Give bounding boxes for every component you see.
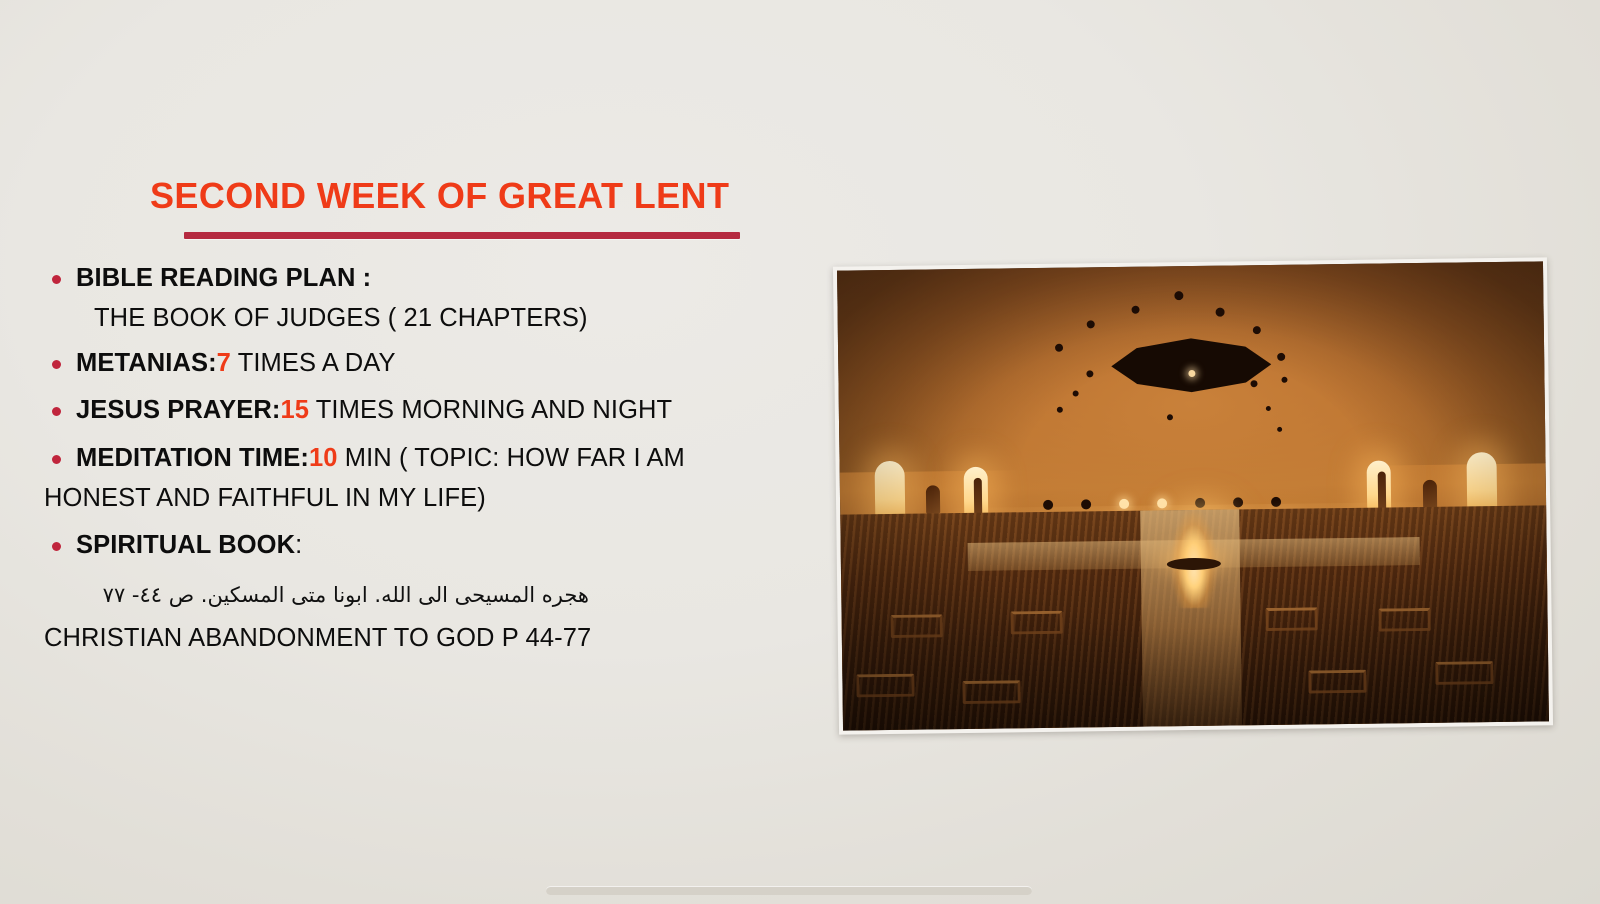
eye-pupil-light	[1188, 370, 1195, 377]
prayer-stool	[1435, 662, 1493, 686]
meditation-line2: HONEST AND FAITHFUL IN MY LIFE)	[44, 482, 814, 515]
ceiling-dot	[1277, 427, 1282, 432]
wall-niche-dark	[926, 485, 940, 513]
jesus-prayer-suffix: TIMES MORNING AND NIGHT	[309, 396, 672, 424]
prayer-stool	[1308, 670, 1366, 694]
meditation-count: 10	[309, 444, 338, 472]
body-text-column: BIBLE READING PLAN : THE BOOK OF JUDGES …	[44, 262, 814, 653]
prayer-stool	[891, 615, 943, 639]
bullet-spiritual-book: SPIRITUAL BOOK:	[44, 529, 814, 562]
wall-niche-dark	[1378, 471, 1387, 511]
title-underline-rule	[184, 232, 740, 239]
ceiling-dot	[1253, 326, 1261, 334]
horizontal-scrollbar[interactable]	[0, 878, 1600, 904]
ceiling-dot	[1167, 414, 1173, 420]
ceiling-dot	[1055, 344, 1063, 352]
wall-dot-lit	[1119, 499, 1129, 509]
horizontal-scrollbar-thumb[interactable]	[546, 886, 1032, 895]
bullet-metanias: METANIAS:7 TIMES A DAY	[44, 347, 814, 380]
jesus-prayer-count: 15	[280, 396, 309, 424]
bullet-jesus-prayer: JESUS PRAYER:15 TIMES MORNING AND NIGHT	[44, 394, 814, 427]
spiritual-book-english-title: CHRISTIAN ABANDONMENT TO GOD P 44-77	[44, 624, 814, 653]
metanias-suffix: TIMES A DAY	[231, 349, 396, 377]
wall-dot-lit	[1157, 498, 1167, 508]
spiritual-book-arabic-title: هجره المسيحى الى الله. ابونا متى المسكين…	[44, 580, 589, 610]
bullet-meditation: MEDITATION TIME:10 MIN ( TOPIC: HOW FAR …	[44, 442, 814, 475]
ceiling-dot	[1131, 305, 1139, 313]
prayer-stool	[1265, 608, 1317, 632]
ceiling-dot	[1086, 320, 1094, 328]
page-title: SECOND WEEK OF GREAT LENT	[150, 176, 850, 216]
title-block: SECOND WEEK OF GREAT LENT	[150, 176, 850, 216]
central-candle-flame	[1167, 496, 1220, 609]
meditation-label: MEDITATION TIME:	[76, 444, 309, 472]
prayer-stool	[1378, 608, 1430, 632]
metanias-count: 7	[217, 349, 231, 377]
prayer-stool	[856, 673, 914, 697]
metanias-label: METANIAS:	[76, 349, 217, 377]
prayer-stool	[962, 681, 1020, 705]
meditation-suffix: MIN ( TOPIC: HOW FAR I AM	[338, 444, 685, 472]
ceiling-dot	[1086, 370, 1093, 377]
spiritual-book-colon: :	[295, 531, 302, 559]
wall-niche-dark	[1423, 480, 1437, 508]
slide-canvas: SECOND WEEK OF GREAT LENT BIBLE READING …	[0, 0, 1600, 904]
photo-image: ✝	[837, 261, 1549, 730]
bible-reading-label: BIBLE READING PLAN :	[76, 264, 371, 292]
jesus-prayer-label: JESUS PRAYER:	[76, 396, 280, 424]
bible-reading-detail: THE BOOK OF JUDGES ( 21 CHAPTERS)	[44, 302, 814, 335]
spiritual-book-label: SPIRITUAL BOOK	[76, 531, 295, 559]
ceiling-dot	[1266, 406, 1271, 411]
bullet-bible-reading: BIBLE READING PLAN :	[44, 262, 814, 295]
church-interior-photo: ✝	[833, 257, 1553, 734]
prayer-stool	[1011, 611, 1063, 635]
